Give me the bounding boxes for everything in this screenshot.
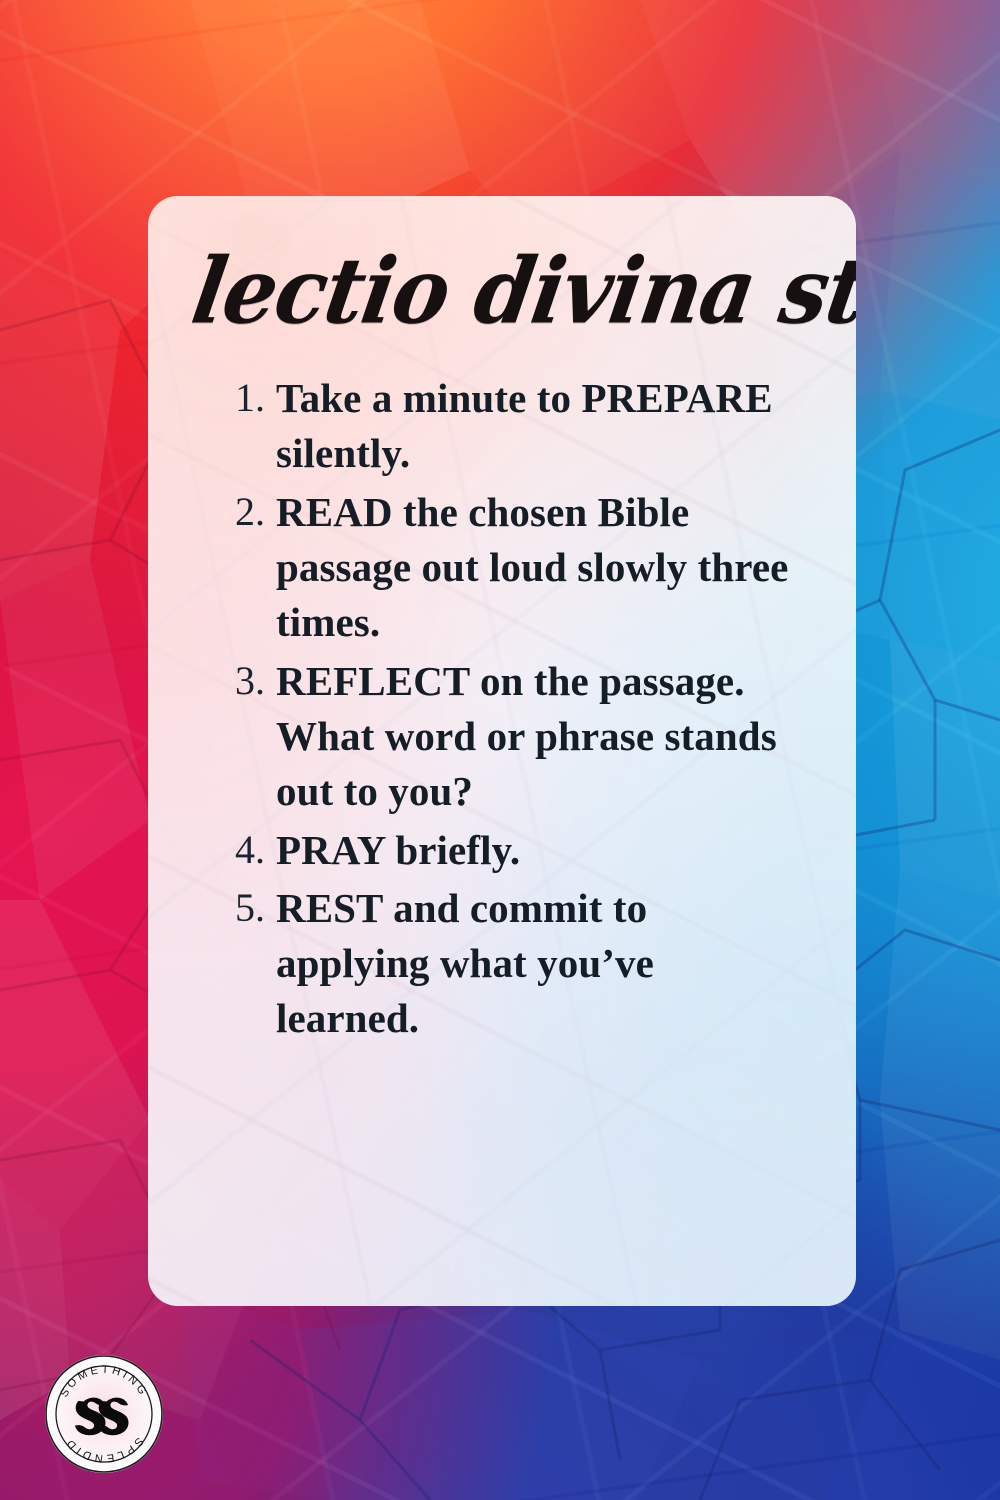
step-text: PRAY briefly. bbox=[276, 823, 806, 878]
step-text: READ the chosen Bible passage out loud s… bbox=[276, 485, 806, 650]
step-keyword: PREPARE bbox=[581, 375, 772, 421]
steps-list: 1. Take a minute to PREPARE silently. 2.… bbox=[188, 371, 810, 1050]
poster-canvas: lectio divina steps 1. Take a minute to … bbox=[0, 0, 1000, 1500]
step-keyword: PRAY bbox=[276, 827, 385, 873]
step-number: 4. bbox=[214, 823, 276, 877]
page-title: lectio divina steps bbox=[186, 242, 817, 338]
step-text: REFLECT on the passage. What word or phr… bbox=[276, 654, 806, 819]
step-text-after: silently. bbox=[276, 430, 410, 476]
card-content: lectio divina steps 1. Take a minute to … bbox=[148, 196, 856, 1306]
brand-logo-badge: SOMETHING SPLENDID SS bbox=[43, 1353, 165, 1475]
step-text: REST and commit to applying what you’ve … bbox=[276, 881, 806, 1046]
step-number: 2. bbox=[214, 485, 276, 539]
list-item: 2. READ the chosen Bible passage out lou… bbox=[214, 485, 806, 650]
step-keyword: REFLECT bbox=[276, 658, 470, 704]
list-item: 1. Take a minute to PREPARE silently. bbox=[214, 371, 806, 481]
logo-monogram bbox=[75, 1398, 129, 1436]
list-item: 4. PRAY briefly. bbox=[214, 823, 806, 878]
step-keyword: READ bbox=[276, 489, 393, 535]
content-card: lectio divina steps 1. Take a minute to … bbox=[148, 196, 856, 1306]
step-text-after: briefly. bbox=[385, 827, 520, 873]
list-item: 5. REST and commit to applying what you’… bbox=[214, 881, 806, 1046]
step-keyword: REST bbox=[276, 885, 383, 931]
step-text: Take a minute to PREPARE silently. bbox=[276, 371, 806, 481]
step-text-before: Take a minute to bbox=[276, 375, 581, 421]
list-item: 3. REFLECT on the passage. What word or … bbox=[214, 654, 806, 819]
step-number: 5. bbox=[214, 881, 276, 935]
step-number: 3. bbox=[214, 654, 276, 708]
step-number: 1. bbox=[214, 371, 276, 425]
